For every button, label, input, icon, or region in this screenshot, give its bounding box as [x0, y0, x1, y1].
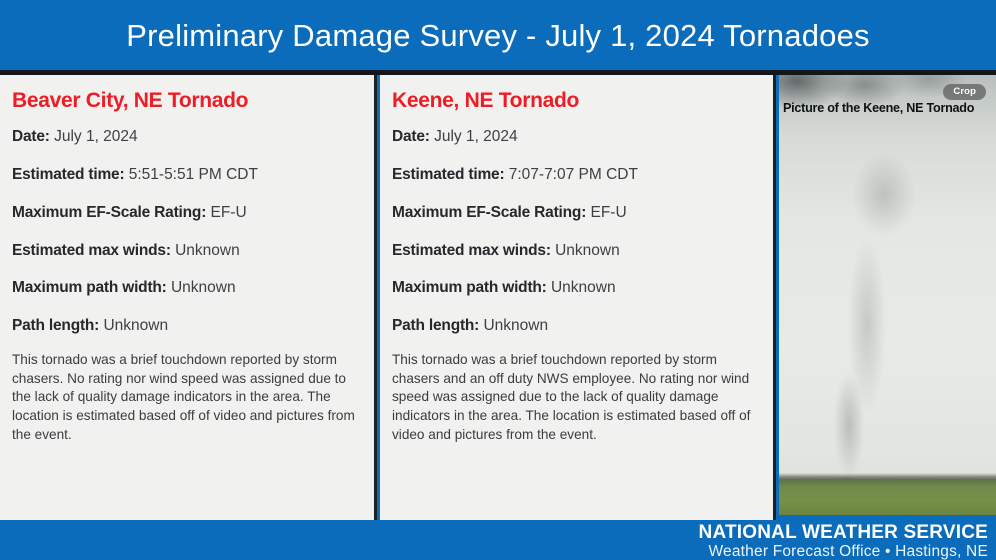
crop-badge[interactable]: Crop: [943, 84, 986, 100]
slide-root: Preliminary Damage Survey - July 1, 2024…: [0, 0, 996, 560]
field-label: Maximum EF-Scale Rating:: [392, 204, 586, 221]
field-estimated-time: Estimated time: 7:07-7:07 PM CDT: [392, 166, 757, 184]
field-label: Path length:: [12, 317, 99, 334]
field-value: Unknown: [175, 242, 240, 259]
footer-office-name: Weather Forecast Office • Hastings, NE: [0, 543, 988, 560]
field-max-winds: Estimated max winds: Unknown: [12, 242, 358, 260]
field-ef-scale-rating: Maximum EF-Scale Rating: EF-U: [12, 204, 358, 222]
field-value: July 1, 2024: [54, 128, 138, 145]
field-path-length: Path length: Unknown: [12, 317, 358, 335]
header-banner: Preliminary Damage Survey - July 1, 2024…: [0, 0, 996, 70]
photo-sky-region: [779, 75, 996, 515]
field-path-width: Maximum path width: Unknown: [392, 279, 757, 297]
tornado-panel-keene: Keene, NE Tornado Date: July 1, 2024 Est…: [380, 75, 776, 520]
page-title: Preliminary Damage Survey - July 1, 2024…: [126, 20, 869, 51]
field-label: Date:: [12, 128, 50, 145]
field-label: Estimated max winds:: [392, 242, 551, 259]
tornado-photo: Picture of the Keene, NE Tornado Crop: [779, 75, 996, 515]
field-value: Unknown: [171, 279, 236, 296]
field-max-winds: Estimated max winds: Unknown: [392, 242, 757, 260]
field-label: Maximum path width:: [12, 279, 167, 296]
field-value: Unknown: [483, 317, 548, 334]
field-value: July 1, 2024: [434, 128, 518, 145]
field-estimated-time: Estimated time: 5:51-5:51 PM CDT: [12, 166, 358, 184]
panel-title: Beaver City, NE Tornado: [12, 89, 358, 112]
field-path-length: Path length: Unknown: [392, 317, 757, 335]
field-label: Estimated time:: [392, 166, 504, 183]
field-value: 7:07-7:07 PM CDT: [509, 166, 638, 183]
photo-field-region: [779, 479, 996, 515]
field-label: Maximum EF-Scale Rating:: [12, 204, 206, 221]
footer-banner: NATIONAL WEATHER SERVICE Weather Forecas…: [0, 523, 996, 560]
content-area: Beaver City, NE Tornado Date: July 1, 20…: [0, 75, 996, 520]
field-date: Date: July 1, 2024: [12, 128, 358, 146]
field-label: Maximum path width:: [392, 279, 547, 296]
panel-summary-note: This tornado was a brief touchdown repor…: [12, 351, 358, 445]
panel-summary-note: This tornado was a brief touchdown repor…: [392, 351, 754, 445]
field-value: 5:51-5:51 PM CDT: [129, 166, 258, 183]
field-value: Unknown: [551, 279, 616, 296]
field-label: Estimated time:: [12, 166, 124, 183]
field-path-width: Maximum path width: Unknown: [12, 279, 358, 297]
field-label: Estimated max winds:: [12, 242, 171, 259]
field-date: Date: July 1, 2024: [392, 128, 757, 146]
field-value: Unknown: [555, 242, 620, 259]
field-label: Date:: [392, 128, 430, 145]
footer-agency-name: NATIONAL WEATHER SERVICE: [0, 523, 988, 543]
tornado-panel-beaver-city: Beaver City, NE Tornado Date: July 1, 20…: [0, 75, 377, 520]
panel-title: Keene, NE Tornado: [392, 89, 757, 112]
field-value: EF-U: [590, 204, 626, 221]
field-label: Path length:: [392, 317, 479, 334]
field-ef-scale-rating: Maximum EF-Scale Rating: EF-U: [392, 204, 757, 222]
field-value: Unknown: [103, 317, 168, 334]
photo-caption: Picture of the Keene, NE Tornado: [783, 101, 996, 115]
field-value: EF-U: [210, 204, 246, 221]
